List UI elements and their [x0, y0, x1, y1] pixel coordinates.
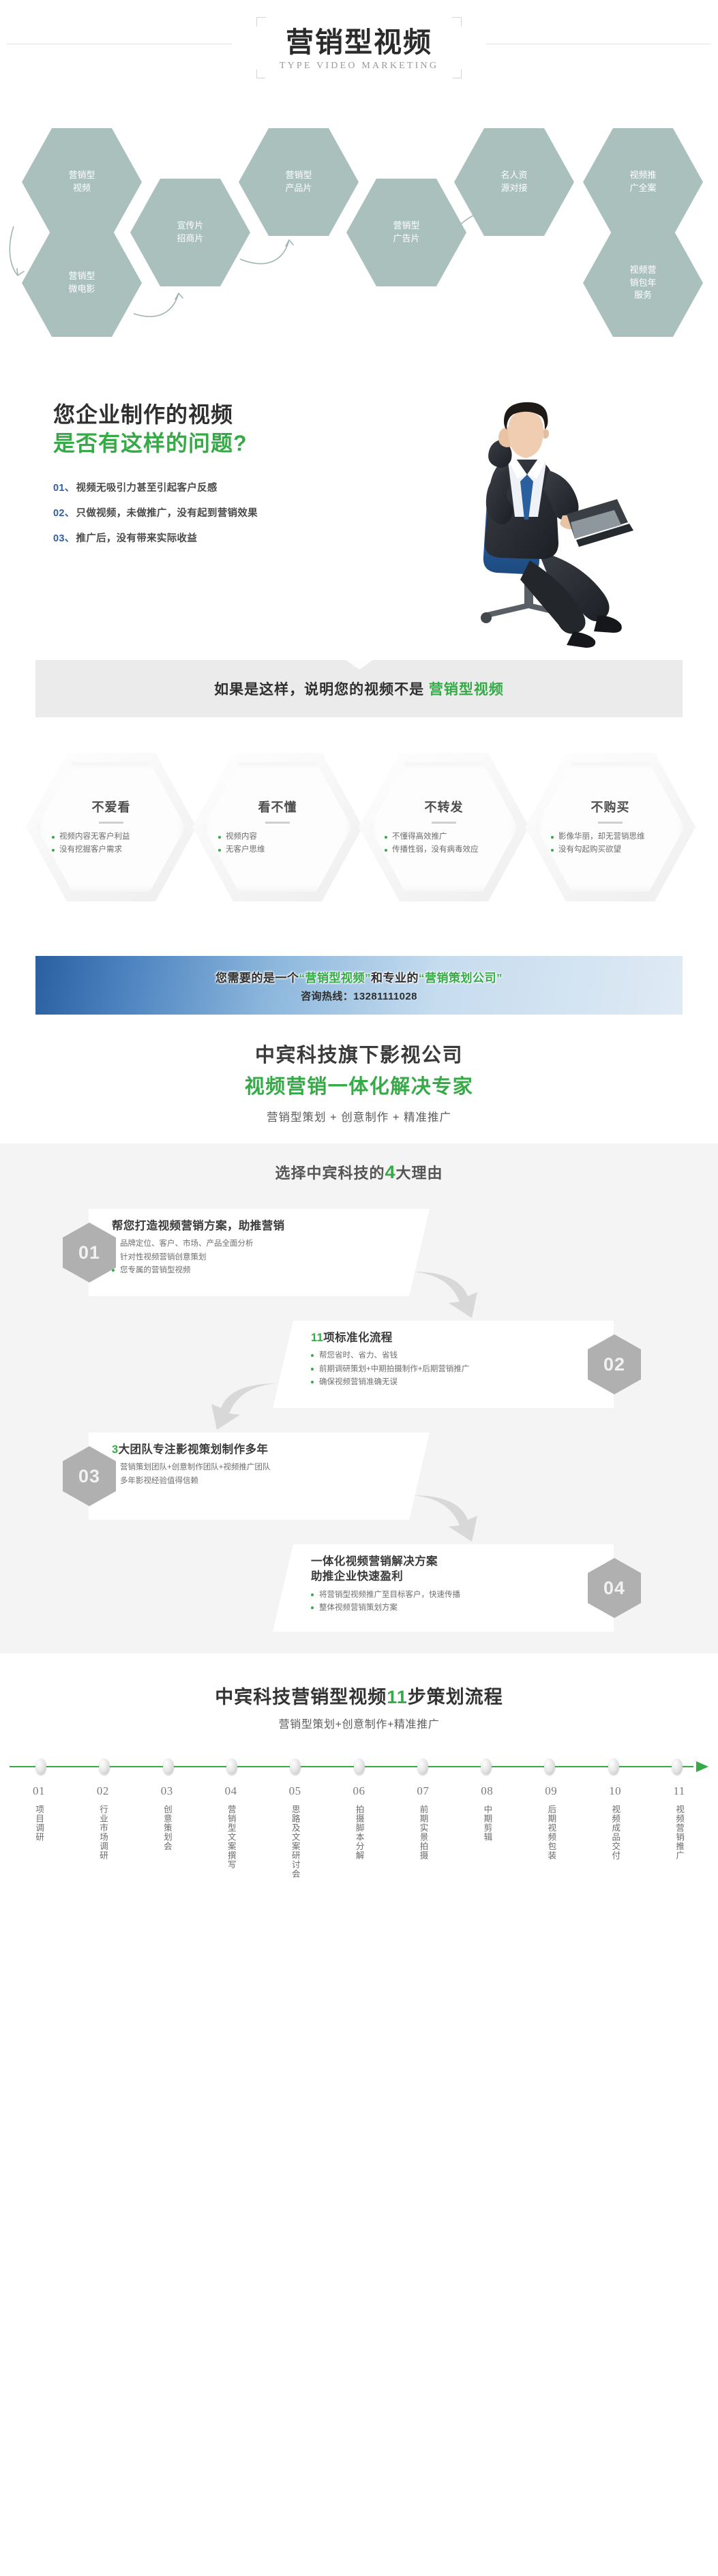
statement-band: 如果是这样，说明您的视频不是 营销型视频	[35, 660, 683, 717]
flow-step[interactable]: 06 拍摄脚本分解	[327, 1784, 391, 1878]
hexagon-service-1[interactable]: 营销型视频	[22, 128, 142, 236]
reason-card-03[interactable]: 3大团队专注影视策划制作多年 营销策划团队+创意制作团队+视频推广团队 多年影视…	[89, 1433, 430, 1520]
flow-timeline-arrow-icon	[696, 1761, 708, 1772]
problem-item-text: 视频无吸引力甚至引起客户反感	[76, 483, 218, 494]
cta-section: 您需要的是一个“营销型视频”和专业的“营销策划公司” 咨询热线：13281111…	[0, 941, 718, 1015]
flow-step-label: 视频营销推广	[672, 1805, 686, 1860]
header-rule-right	[486, 44, 711, 44]
reason-number-03-label: 03	[78, 1466, 100, 1487]
cta-pre: 您需要的是一个	[215, 972, 299, 985]
reason-card-item: 整体视频营销策划方案	[311, 1602, 596, 1615]
flow-step-label: 行业市场调研	[96, 1805, 110, 1860]
cta-hotline[interactable]: 咨询热线：13281111028	[301, 989, 417, 1003]
reason-card-01-title: 帮您打造视频营销方案，助推营销	[112, 1218, 412, 1233]
flow-node	[608, 1758, 619, 1775]
flow-node	[672, 1758, 683, 1775]
cta-headline: 您需要的是一个“营销型视频”和专业的“营销策划公司”	[215, 968, 503, 985]
flow-step[interactable]: 04 营销型文案撰写	[199, 1784, 263, 1878]
reason-card-02-title-text: 项标准化流程	[323, 1332, 392, 1344]
problem-card-item: 不懂得高效推广	[385, 831, 503, 843]
hexagon-service-3[interactable]: 营销型微电影	[22, 229, 142, 337]
problem-item-number: 01、	[53, 483, 75, 494]
flow-node	[226, 1758, 237, 1775]
reason-card-04[interactable]: 一体化视频营销解决方案 助推企业快速盈利 将营销型视频推广至目标客户，快速传播 …	[273, 1544, 614, 1632]
flow-timeline-line	[10, 1766, 693, 1767]
problem-headline-2: 是否有这样的问题?	[53, 430, 367, 457]
problem-card-1[interactable]: 不爱看 视频内容无客户利益 没有挖掘客户需求	[26, 753, 196, 901]
flow-step-number: 06	[353, 1784, 365, 1798]
flow-step[interactable]: 05 思路及文案研讨会	[263, 1784, 327, 1878]
reason-number-01-label: 01	[78, 1242, 100, 1263]
flow-node	[354, 1758, 365, 1775]
flow-step-number: 11	[673, 1784, 685, 1798]
reason-card-item: 前期调研策划+中期拍摄制作+后期营销推广	[311, 1363, 596, 1377]
problem-card-item: 影像华丽，却无营销思维	[551, 831, 670, 843]
reason-card-03-title: 3大团队专注影视策划制作多年	[112, 1442, 412, 1457]
company-headline-1: 中宾科技旗下影视公司	[0, 1039, 718, 1068]
flow-step-number: 04	[225, 1784, 237, 1798]
hexagon-service-7[interactable]: 视频推广全案	[583, 128, 703, 236]
statement-text-accent: 营销型视频	[429, 682, 504, 698]
reasons-title: 选择中宾科技的4大理由	[0, 1161, 718, 1183]
reasons-list: 帮您打造视频营销方案，助推营销 品牌定位、客户、市场、产品全面分析 针对性视频营…	[0, 1193, 718, 1629]
reason-card-03-accent: 3	[112, 1443, 119, 1456]
flow-step[interactable]: 01 项目调研	[7, 1784, 71, 1878]
problem-card-1-title: 不爱看	[92, 798, 131, 815]
problem-item-text: 推广后，没有带来实际收益	[76, 533, 198, 544]
flow-step-number: 08	[481, 1784, 493, 1798]
problem-card-2[interactable]: 看不懂 视频内容 无客户思维	[192, 753, 363, 901]
flow-step-number: 09	[545, 1784, 557, 1798]
flow-node	[35, 1758, 46, 1775]
flow-step-number: 01	[33, 1784, 45, 1798]
flow-step-label: 前期实景拍摄	[416, 1805, 430, 1860]
flow-step[interactable]: 07 前期实景拍摄	[391, 1784, 455, 1878]
flow-section: 中宾科技营销型视频11步策划流程 营销型策划+创意制作+精准推广 01 项目调研	[0, 1653, 718, 1902]
problem-list: 01、视频无吸引力甚至引起客户反感 02、只做视频，未做推广，没有起到营销效果 …	[53, 480, 367, 545]
problem-card-item: 无客户思维	[218, 844, 337, 856]
problem-item-text: 只做视频，未做推广，没有起到营销效果	[76, 508, 258, 519]
reason-arrow-2-icon	[205, 1378, 280, 1433]
problem-card-divider	[598, 822, 623, 824]
flow-step-label: 创意策划会	[160, 1805, 174, 1851]
reason-card-01[interactable]: 帮您打造视频营销方案，助推营销 品牌定位、客户、市场、产品全面分析 针对性视频营…	[89, 1209, 430, 1296]
reason-card-02-accent: 11	[311, 1332, 323, 1344]
landing-page: 营销型视频 TYPE VIDEO MARKETING 营销型视频	[0, 0, 718, 1902]
reason-card-02[interactable]: 11项标准化流程 帮您省时、省力、省钱 前期调研策划+中期拍摄制作+后期营销推广…	[273, 1321, 614, 1408]
cta-accent-2: “营销策划公司”	[419, 972, 503, 985]
reason-card-03-title-text: 大团队专注影视策划制作多年	[119, 1443, 269, 1456]
page-subtitle: TYPE VIDEO MARKETING	[280, 61, 438, 72]
flow-title: 中宾科技营销型视频11步策划流程	[0, 1682, 718, 1709]
hexagon-service-1-label: 营销型视频	[64, 169, 99, 195]
flow-node	[544, 1758, 555, 1775]
reason-card-item: 帮您省时、省力、省钱	[311, 1349, 596, 1363]
problem-card-3-title: 不转发	[425, 798, 464, 815]
flow-step-number: 07	[417, 1784, 429, 1798]
flow-step-label: 视频成品交付	[608, 1805, 622, 1860]
flow-step-label: 拍摄脚本分解	[352, 1805, 365, 1860]
problem-copy: 您企业制作的视频 是否有这样的问题? 01、视频无吸引力甚至引起客户反感 02、…	[53, 401, 367, 556]
flow-step-label: 中期剪辑	[480, 1805, 494, 1842]
flow-step[interactable]: 11 视频营销推广	[647, 1784, 711, 1878]
flow-step[interactable]: 03 创意策划会	[135, 1784, 199, 1878]
problem-list-item: 03、推广后，没有带来实际收益	[53, 530, 367, 545]
cta-banner[interactable]: 您需要的是一个“营销型视频”和专业的“营销策划公司” 咨询热线：13281111…	[35, 956, 683, 1015]
reason-card-item: 您专属的营销型视频	[112, 1264, 412, 1278]
businessman-photo	[404, 375, 691, 648]
flow-step-number: 02	[97, 1784, 109, 1798]
company-headline-3: 营销型策划 + 创意制作 + 精准推广	[0, 1108, 718, 1124]
statement-band-section: 如果是这样，说明您的视频不是 营销型视频	[0, 648, 718, 727]
service-hexagon-cluster: 营销型视频 宣传片招商片 营销型微电影 营销型产品片 营销型广告片 名人资源对接…	[0, 95, 718, 368]
cta-accent-1: “营销型视频”	[299, 972, 372, 985]
flow-node	[290, 1758, 301, 1775]
flow-subtitle: 营销型策划+创意制作+精准推广	[0, 1715, 718, 1731]
reason-number-02-label: 02	[603, 1354, 625, 1375]
problem-card-divider	[265, 822, 290, 824]
reason-card-04-title: 一体化视频营销解决方案 助推企业快速盈利	[311, 1554, 596, 1585]
problem-cards-section: 不爱看 视频内容无客户利益 没有挖掘客户需求 看不懂 视频内容 无客户思维 不转…	[0, 736, 718, 941]
header-title-box: 营销型视频 TYPE VIDEO MARKETING	[256, 17, 462, 78]
company-headline-section: 中宾科技旗下影视公司 视频营销一体化解决专家 营销型策划 + 创意制作 + 精准…	[0, 1015, 718, 1143]
problem-card-item: 没有挖掘客户需求	[52, 844, 170, 856]
problem-card-divider	[99, 822, 123, 824]
flow-timeline-track	[10, 1758, 708, 1775]
flow-step[interactable]: 02 行业市场调研	[71, 1784, 135, 1878]
page-title: 营销型视频	[280, 27, 438, 59]
flow-node	[99, 1758, 110, 1775]
hexagon-service-7-label: 视频推广全案	[625, 169, 660, 195]
statement-text-plain: 如果是这样，说明您的视频不是	[214, 682, 424, 698]
flow-node	[481, 1758, 492, 1775]
reason-card-item: 确保视频营销准确无误	[311, 1376, 596, 1390]
problem-item-number: 03、	[53, 533, 75, 544]
flow-step[interactable]: 08 中期剪辑	[455, 1784, 519, 1878]
problem-headline-1: 您企业制作的视频	[53, 401, 367, 428]
hexagon-service-2-label: 宣传片招商片	[173, 220, 207, 245]
hexagon-service-2[interactable]: 宣传片招商片	[130, 179, 250, 286]
reasons-title-pre: 选择中宾科技的	[275, 1165, 385, 1182]
hexagon-service-6-label: 名人资源对接	[496, 169, 531, 195]
flow-step-number: 03	[161, 1784, 173, 1798]
reason-card-item: 品牌定位、客户、市场、产品全面分析	[112, 1238, 412, 1251]
flow-step-label: 思路及文案研讨会	[288, 1805, 301, 1878]
flow-step-label: 后期视频包装	[544, 1805, 558, 1860]
flow-step-number: 05	[289, 1784, 301, 1798]
problem-list-item: 01、视频无吸引力甚至引起客户反感	[53, 480, 367, 494]
reasons-title-accent: 4	[385, 1162, 395, 1182]
flow-title-pre: 中宾科技营销型视频	[215, 1687, 387, 1707]
reason-card-item: 营销策划团队+创意制作团队+视频推广团队	[112, 1461, 412, 1475]
reason-card-01-title-text: 帮您打造视频营销方案，助推营销	[112, 1220, 285, 1232]
problem-card-item: 视频内容	[218, 831, 337, 843]
flow-step-label: 营销型文案撰写	[224, 1805, 238, 1870]
hexagon-service-3-label: 营销型微电影	[64, 270, 99, 296]
flow-step[interactable]: 10 视频成品交付	[583, 1784, 647, 1878]
page-header: 营销型视频 TYPE VIDEO MARKETING	[0, 0, 718, 95]
problem-card-3[interactable]: 不转发 不懂得高效推广 传播性弱，没有病毒效应	[359, 753, 529, 901]
hexagon-service-6[interactable]: 名人资源对接	[454, 128, 574, 236]
hexagon-service-4-label: 营销型产品片	[281, 169, 316, 195]
problem-card-divider	[432, 822, 456, 824]
problem-card-item: 传播性弱，没有病毒效应	[385, 844, 503, 856]
flow-node	[163, 1758, 174, 1775]
hexagon-service-4[interactable]: 营销型产品片	[239, 128, 359, 236]
reason-card-02-title: 11项标准化流程	[311, 1330, 596, 1345]
reason-card-item: 多年影视经验值得信赖	[112, 1475, 412, 1488]
problem-card-item: 视频内容无客户利益	[52, 831, 170, 843]
problem-card-item: 没有勾起购买欲望	[551, 844, 670, 856]
flow-title-post: 步策划流程	[408, 1687, 503, 1707]
flow-step-number: 10	[609, 1784, 621, 1798]
flow-step-label: 项目调研	[32, 1805, 46, 1842]
reason-card-item: 针对性视频营销创意策划	[112, 1251, 412, 1265]
reason-card-item: 将营销型视频推广至目标客户，快速传播	[311, 1589, 596, 1602]
problem-card-2-title: 看不懂	[258, 798, 297, 815]
hexagon-service-5[interactable]: 营销型广告片	[346, 179, 466, 286]
reasons-section: 选择中宾科技的4大理由 帮您打造视频营销方案，助推营销	[0, 1143, 718, 1653]
cta-mid: 和专业的	[371, 972, 419, 985]
problem-card-4-title: 不购买	[591, 798, 630, 815]
reason-number-04-label: 04	[603, 1578, 625, 1599]
problem-list-item: 02、只做视频，未做推广，没有起到营销效果	[53, 505, 367, 520]
company-headline-2: 视频营销一体化解决专家	[0, 1070, 718, 1099]
flow-title-accent: 11	[387, 1687, 408, 1707]
header-rule-left	[7, 44, 232, 44]
flow-steps: 01 项目调研 02 行业市场调研 03 创意策划会 04 营销型文案撰写 05…	[7, 1784, 711, 1878]
reasons-title-post: 大理由	[396, 1165, 443, 1182]
flow-step[interactable]: 09 后期视频包装	[519, 1784, 583, 1878]
problem-card-4[interactable]: 不购买 影像华丽，却无营销思维 没有勾起购买欲望	[525, 753, 695, 901]
hexagon-service-5-label: 营销型广告片	[389, 220, 423, 245]
hexagon-service-8[interactable]: 视频营销包年服务	[583, 229, 703, 337]
statement-text: 如果是这样，说明您的视频不是 营销型视频	[214, 678, 504, 699]
problem-item-number: 02、	[53, 508, 75, 519]
hexagon-service-8-label: 视频营销包年服务	[625, 264, 660, 303]
flow-node	[417, 1758, 428, 1775]
problem-section: 您企业制作的视频 是否有这样的问题? 01、视频无吸引力甚至引起客户反感 02、…	[0, 368, 718, 648]
